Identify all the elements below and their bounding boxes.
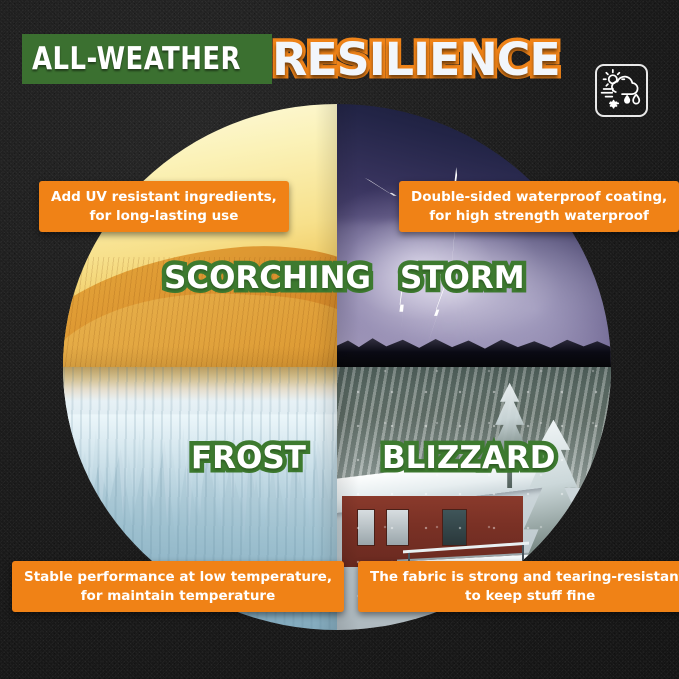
quadrant-title-scorching: SCORCHING: [164, 263, 371, 294]
callout-line-2: to keep stuff fine: [370, 587, 679, 606]
header-banner: ALL-WEATHER RESILIENCE: [0, 29, 679, 91]
header-title-resilience: RESILIENCE: [272, 29, 560, 91]
quadrant-title-frost: FROST: [191, 443, 306, 474]
callout-blizzard: The fabric is strong and tearing-resista…: [358, 561, 679, 612]
quadrant-title-blizzard: BLIZZARD: [382, 443, 555, 474]
callout-storm: Double-sided waterproof coating, for hig…: [399, 181, 679, 232]
callout-line-1: Double-sided waterproof coating,: [411, 188, 667, 207]
callout-scorching: Add UV resistant ingredients, for long-l…: [39, 181, 289, 232]
callout-line-1: Add UV resistant ingredients,: [51, 188, 277, 207]
header-title-all-weather: ALL-WEATHER: [32, 39, 241, 79]
callout-line-1: The fabric is strong and tearing-resista…: [370, 568, 679, 587]
quadrant-image-storm: [337, 104, 611, 367]
quadrant-title-storm: STORM: [400, 263, 525, 294]
callout-line-2: for high strength waterproof: [411, 207, 667, 226]
callout-line-2: for maintain temperature: [24, 587, 332, 606]
callout-line-1: Stable performance at low temperature,: [24, 568, 332, 587]
callout-frost: Stable performance at low temperature, f…: [12, 561, 344, 612]
callout-line-2: for long-lasting use: [51, 207, 277, 226]
quadrant-image-scorching: [63, 104, 337, 367]
